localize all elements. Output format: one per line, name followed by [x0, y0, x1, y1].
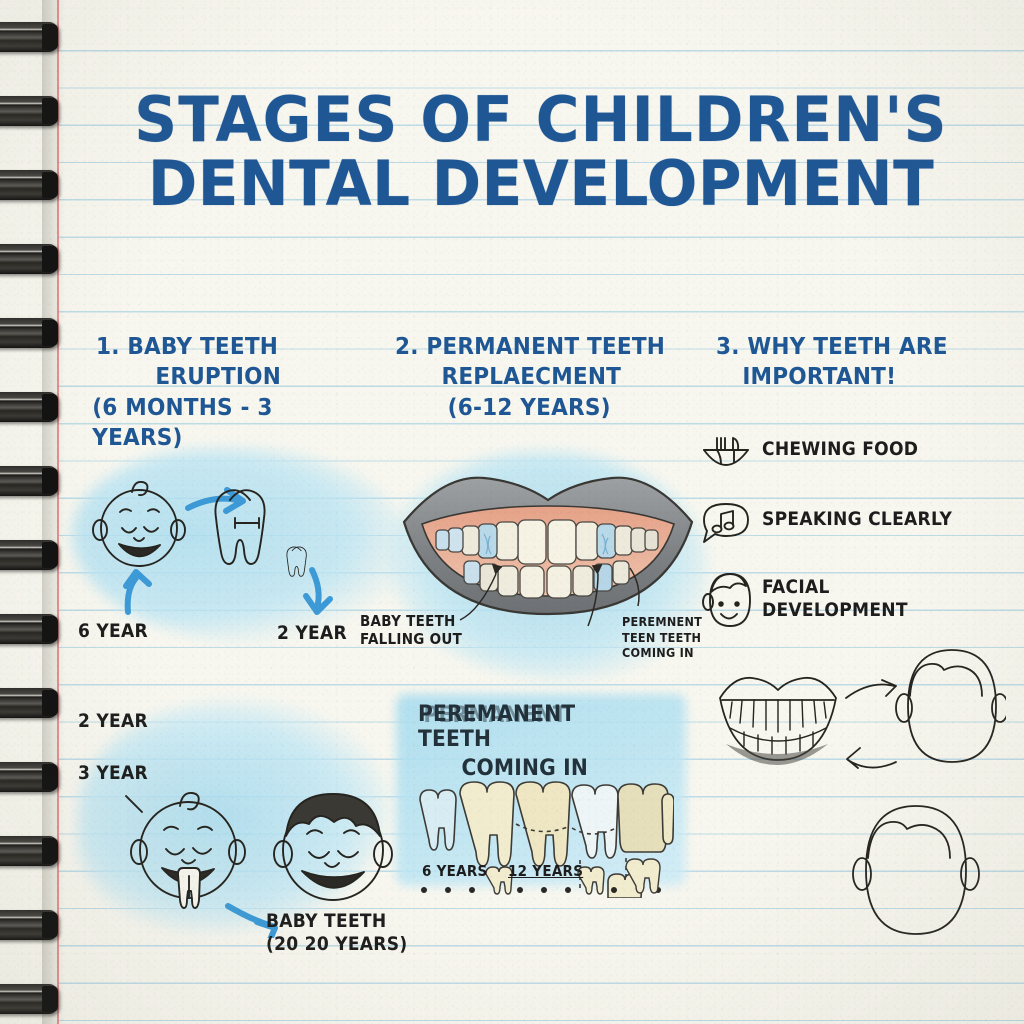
- panel-title-line2: COMING IN: [461, 756, 587, 781]
- spiral-ring: [0, 762, 58, 792]
- baby-to-tooth-diagram: [84, 470, 384, 620]
- head-outline-blank-icon: [848, 796, 998, 966]
- spiral-ring: [0, 688, 58, 718]
- arrow-icon: [126, 572, 149, 612]
- section-3-heading: 3. WHY TEETH ARE IMPORTANT!: [716, 332, 970, 393]
- page-title: STAGES OF CHILDREN'S DENTAL DEVELOPMENT: [77, 88, 1004, 216]
- spiral-ring: [0, 466, 58, 496]
- label-age-2-year-lower: 2 YEAR: [78, 710, 148, 733]
- arrow-icon: [306, 570, 330, 612]
- section-2-subtitle: (6-12 YEARS): [448, 393, 668, 423]
- notebook-page: STAGES OF CHILDREN'S DENTAL DEVELOPMENT …: [0, 0, 1024, 1024]
- spiral-ring: [0, 244, 58, 274]
- spiral-ring: [0, 318, 58, 348]
- spiral-ring: [0, 984, 58, 1014]
- panel-title-permanent-teeth: PEREMANENT TEETH PERMANENT COMING IN: [418, 702, 648, 781]
- section-2-title-line1: 2. PERMANENT TEETH: [395, 332, 668, 362]
- erupting-tooth-icon: [178, 868, 200, 908]
- section-1-title-line2: ERUPTION: [96, 362, 340, 392]
- annotation-permanent-line3: COMING IN: [622, 645, 702, 661]
- spiral-ring: [0, 170, 58, 200]
- annotation-baby-falling-line2: FALLING OUT: [360, 630, 462, 648]
- page-title-line2: DENTAL DEVELOPMENT: [77, 152, 1004, 216]
- open-mouth-teeth-icon: [392, 456, 704, 632]
- benefit-label-chewing-food: CHEWING FOOD: [762, 438, 918, 461]
- spiral-ring: [0, 540, 58, 570]
- section-2-title-line2: REPLAECMENT: [395, 362, 668, 392]
- head-outline-icon: [896, 650, 1006, 762]
- label-baby-teeth-count: BABY TEETH (20 20 YEARS): [266, 910, 407, 956]
- benefit-facial-line1: FACIAL: [762, 576, 908, 599]
- baby-face-icon: [131, 793, 245, 908]
- child-face-icon: [274, 794, 392, 900]
- section-1-subtitle: (6 MONTHS - 3 YEARS): [92, 393, 340, 454]
- baby-face-icon: [93, 482, 185, 566]
- benefit-label-speaking-clearly: SPEAKING CLEARLY: [762, 508, 952, 531]
- annotation-permanent-coming-in: PEREMNENT TEEN TEETH COMING IN: [622, 614, 702, 661]
- spiral-binding: [0, 0, 60, 1024]
- spiral-ring: [0, 22, 58, 52]
- annotation-permanent-line1: PEREMNENT: [622, 614, 702, 630]
- face-profile-icon: [700, 570, 756, 630]
- annotation-baby-falling-line1: BABY TEETH: [360, 612, 462, 630]
- benefit-label-facial-development: FACIAL DEVELOPMENT: [762, 576, 908, 622]
- spiral-ring: [0, 614, 58, 644]
- panel-title-overlay: PERMANENT: [424, 703, 567, 728]
- timeline-label-12-years: 12 YEARS: [508, 862, 583, 880]
- timeline-label-6-years: 6 YEARS: [422, 862, 488, 880]
- arrow-icon: [846, 680, 896, 768]
- section-2-heading: 2. PERMANENT TEETH REPLAECMENT (6-12 YEA…: [395, 332, 668, 423]
- label-baby-teeth-line1: BABY TEETH: [266, 910, 407, 933]
- section-3-title-line2: IMPORTANT!: [742, 362, 969, 392]
- section-1-heading: 1. BABY TEETH ERUPTION (6 MONTHS - 3 YEA…: [96, 332, 340, 453]
- section-1-title-line1: 1. BABY TEETH: [96, 332, 340, 362]
- pointer-line: [126, 796, 142, 812]
- spiral-ring: [0, 836, 58, 866]
- label-age-3-year: 3 YEAR: [78, 762, 148, 785]
- speech-bubble-music-icon: [700, 500, 752, 552]
- annotation-permanent-line2: TEEN TEETH: [622, 630, 702, 646]
- smiling-mouth-icon: [720, 678, 836, 765]
- label-baby-teeth-line2: (20 20 YEARS): [266, 933, 407, 956]
- mouth-to-face-diagram: [696, 640, 1006, 800]
- label-age-2-year: 2 YEAR: [277, 622, 347, 645]
- spiral-ring: [0, 392, 58, 422]
- page-title-line1: STAGES OF CHILDREN'S: [77, 88, 1004, 152]
- benefit-facial-line2: DEVELOPMENT: [762, 599, 908, 622]
- spiral-ring: [0, 910, 58, 940]
- spiral-ring: [0, 96, 58, 126]
- label-age-6-year: 6 YEAR: [78, 620, 148, 643]
- section-3-title-line1: 3. WHY TEETH ARE: [716, 332, 970, 362]
- small-tooth-icon: [287, 547, 306, 576]
- plate-cutlery-icon: [700, 434, 752, 480]
- annotation-baby-teeth-falling: BABY TEETH FALLING OUT: [360, 612, 462, 649]
